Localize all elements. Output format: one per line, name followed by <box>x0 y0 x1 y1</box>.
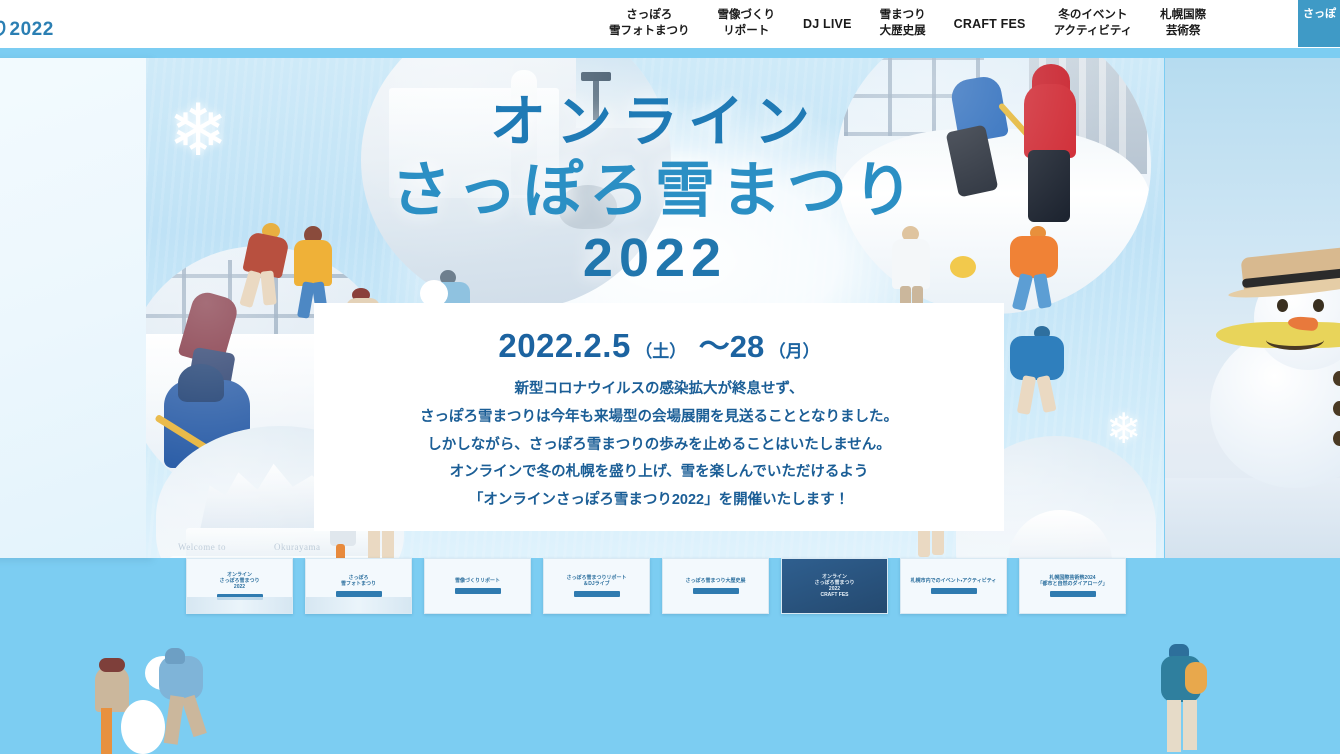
person-jacket <box>1010 236 1058 278</box>
person-blue-hood <box>165 648 185 664</box>
side-panel-left: ❄ ❄ <box>0 58 150 558</box>
person-leg <box>1017 375 1036 415</box>
thumbnail-button <box>574 591 620 597</box>
nav-label-line2: 大歴史展 <box>880 24 926 40</box>
thumbnail-title: さっぽろ雪まつりリポート ＆DJライブ <box>562 575 630 588</box>
bubble-lamp-post <box>593 78 599 120</box>
thumb-winter-activity[interactable]: 札幌市内でのイベント・アクティビティ <box>900 558 1007 614</box>
person-leg <box>164 695 185 744</box>
thumbnail-title: 札幌市内でのイベント・アクティビティ <box>907 578 1001 584</box>
description-line: 新型コロナウイルスの感染拡大が終息せず、 <box>314 376 1004 404</box>
bubble-worker-red-legs <box>182 347 236 423</box>
backpack <box>1185 662 1207 694</box>
site-header: り2022 さっぽろ 雪フォトまつり 雪像づくり リポート DJ LIVE 雪ま… <box>0 0 1340 48</box>
thumb-online-snow-festival[interactable]: オンライン さっぽろ雪まつり 2022 <box>186 558 293 614</box>
thumbnail-button <box>931 588 977 594</box>
person-leg <box>1167 700 1181 752</box>
hero-banner: ❄ ❄ ❄ ❄ ❄ ❄ <box>146 58 1164 558</box>
nav-item-dj-live[interactable]: DJ LIVE <box>789 16 866 33</box>
thumbnail-title: さっぽろ 雪フォトまつり <box>337 575 380 588</box>
thumb-art-festival[interactable]: 札幌国際芸術祭2024 「都市と自然のダイアローグ」 <box>1019 558 1126 614</box>
snowflake-icon: ❄ <box>168 88 228 172</box>
bubble-snow-slab <box>389 88 559 198</box>
child-body <box>950 256 976 278</box>
nav-label-line2: 雪フォトまつり <box>609 24 690 40</box>
bubble-worker-red-top <box>178 289 241 367</box>
illustration-person-orange-sled-puller <box>1004 226 1076 326</box>
hero-description: 新型コロナウイルスの感染拡大が終息せず、 さっぽろ雪まつりは今年も来場型の会場展… <box>314 376 1004 515</box>
thumb-craft-fes[interactable]: オンライン さっぽろ雪まつり 2022 CRAFT FES <box>781 558 888 614</box>
bubble-snow-mound <box>559 185 617 229</box>
person-leg <box>1012 273 1033 311</box>
thumbnail-title: オンライン さっぽろ雪まつり 2022 <box>215 572 263 591</box>
person-beige-coat <box>95 666 129 712</box>
bubble-person-blue-jacket <box>949 74 1009 144</box>
photo-bubble-snow-sculpture <box>361 58 671 310</box>
thumbnail-button <box>693 588 739 594</box>
snowman-button <box>1333 401 1340 416</box>
thumbnail-carousel: オンライン さっぽろ雪まつり 2022 さっぽろ 雪フォトまつり 雪像づくりリポ… <box>186 558 1126 620</box>
person-leg <box>101 708 112 754</box>
site-logo[interactable]: り2022 <box>0 14 54 41</box>
bubble-person-red-jacket <box>1024 84 1076 158</box>
snowman-mouth <box>1266 330 1324 350</box>
person-leg <box>1033 273 1052 309</box>
person-leg <box>181 695 207 737</box>
event-date-end: 〜28 <box>699 329 764 364</box>
snowman-button <box>1333 371 1340 386</box>
side-panel-right-snowman-photo[interactable] <box>1165 58 1340 558</box>
thumbnail-button <box>455 588 501 594</box>
bubble-snow-figure <box>511 70 537 195</box>
person-coat <box>294 240 332 286</box>
thumbnail-strip <box>187 597 292 613</box>
nav-label-line1: 冬のイベント <box>1058 9 1127 21</box>
nav-item-snow-festival-history[interactable]: 雪まつり 大歴史展 <box>866 8 940 39</box>
igloo-structure <box>1008 510 1112 558</box>
nav-item-craft-fes[interactable]: CRAFT FES <box>940 16 1040 33</box>
thumbnail-title: オンライン さっぽろ雪まつり 2022 CRAFT FES <box>810 574 858 599</box>
thumb-history-exhibition[interactable]: さっぽろ雪まつり大歴史展 <box>662 558 769 614</box>
person-leg <box>368 528 380 558</box>
bubble-worker-blue-hood <box>178 364 224 402</box>
nav-label-line1: 雪まつり <box>880 9 926 21</box>
illustration-snowball-pair <box>95 642 215 754</box>
bubble-tool <box>998 102 1051 160</box>
thumb-snow-photo-festival[interactable]: さっぽろ 雪フォトまつり <box>305 558 412 614</box>
nav-label-line1: 雪像づくり <box>718 9 776 21</box>
thumbnail-title: さっぽろ雪まつり大歴史展 <box>681 578 749 584</box>
bubble-building <box>1029 58 1147 174</box>
sculpture-caption-left: Welcome to <box>178 542 226 552</box>
nav-label-line2: アクティビティ <box>1054 24 1133 40</box>
person-leg <box>382 528 394 558</box>
photo-bubble-snow-construction <box>836 58 1151 314</box>
person-jacket <box>1010 336 1064 380</box>
description-line: しかしながら、さっぽろ雪まつりの歩みを止めることはいたしません。 <box>314 432 1004 460</box>
description-line: オンラインで冬の札幌を盛り上げ、雪を楽しんでいただけるよう <box>314 459 1004 487</box>
nav-label-line2: 芸術祭 <box>1160 24 1206 40</box>
bubble-person-blue-legs <box>946 125 999 198</box>
sculpture-caption-right: Okurayama <box>274 542 320 552</box>
event-date-day2: （月） <box>769 342 820 361</box>
header-cta-button[interactable]: さっぽ <box>1298 0 1340 47</box>
snowball-large <box>121 700 165 754</box>
person-beige-hat <box>99 658 125 672</box>
illustration-child-sled <box>946 250 988 292</box>
thumbnail-strip <box>306 597 411 613</box>
description-line: さっぽろ雪まつりは今年も来場型の会場展開を見送ることとなりました。 <box>314 404 1004 432</box>
bubble-background <box>576 58 671 128</box>
event-date-day1: （土） <box>635 342 686 361</box>
nav-item-winter-event-activity[interactable]: 冬のイベント アクティビティ <box>1040 8 1147 39</box>
nav-item-snow-sculpture-report[interactable]: 雪像づくり リポート <box>704 8 790 39</box>
person-leg <box>1183 700 1197 750</box>
snowman-button <box>1333 431 1340 446</box>
thumbnail-title: 雪像づくりリポート <box>451 578 504 584</box>
hero-info-box: 2022.2.5 （土） 〜28 （月） 新型コロナウイルスの感染拡大が終息せず… <box>314 303 1004 531</box>
event-date-line: 2022.2.5 （土） 〜28 （月） <box>314 321 1004 366</box>
thumbnail-title: 札幌国際芸術祭2024 「都市と自然のダイアローグ」 <box>1033 575 1111 588</box>
thumbnail-button <box>1050 591 1096 597</box>
snowman-eye-left <box>1277 299 1288 312</box>
bubble-scaffolding <box>844 58 984 136</box>
nav-item-snow-photo-festival[interactable]: さっぽろ 雪フォトまつり <box>595 8 704 39</box>
person-coat <box>892 239 930 289</box>
description-line: 「オンラインさっぽろ雪まつり2022」を開催いたします！ <box>314 487 1004 515</box>
illustration-person-blue-sled-puller <box>1006 326 1086 426</box>
person-leg <box>239 270 261 308</box>
snowman-eye-right <box>1313 299 1324 312</box>
nav-label-line2: リポート <box>718 24 776 40</box>
thumb-snow-sculpture-report[interactable]: 雪像づくりリポート <box>424 558 531 614</box>
child-leg <box>336 544 345 558</box>
page-body: ❄ ❄ ❄ ❄ ❄ ❄ ❄ ❄ <box>0 48 1340 754</box>
snow-ground <box>1165 478 1340 558</box>
nav-label-line1: DJ LIVE <box>803 17 852 31</box>
nav-label-line1: CRAFT FES <box>954 17 1026 31</box>
bubble-snow-pile <box>836 129 1151 314</box>
bubble-person-red-legs <box>1028 150 1070 222</box>
nav-item-sapporo-art-festival[interactable]: 札幌国際 芸術祭 <box>1146 8 1220 39</box>
main-navigation: さっぽろ 雪フォトまつり 雪像づくり リポート DJ LIVE 雪まつり 大歴史… <box>595 0 1220 48</box>
illustration-backpacker-bottom <box>1155 642 1225 754</box>
person-leg <box>1036 375 1056 413</box>
bubble-person-red-hood <box>1032 64 1070 98</box>
event-date-main: 2022.2.5 <box>498 327 630 364</box>
thumb-dj-live[interactable]: さっぽろ雪まつりリポート ＆DJライブ <box>543 558 650 614</box>
nav-label-line1: 札幌国際 <box>1160 9 1206 21</box>
nav-label-line1: さっぽろ <box>626 9 672 21</box>
